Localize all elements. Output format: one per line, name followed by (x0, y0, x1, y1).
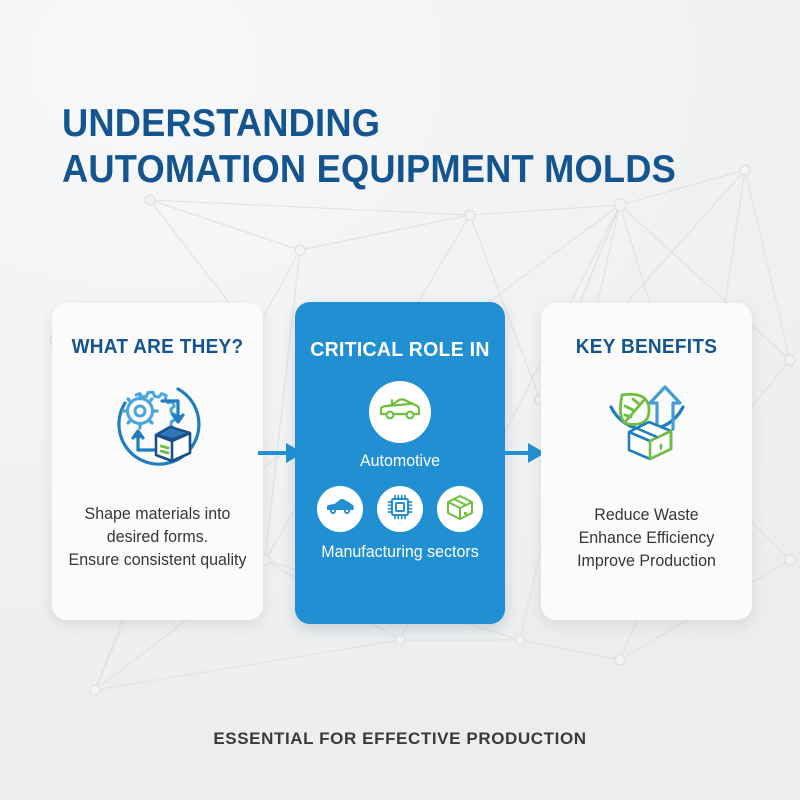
manufacturing-sectors-label: Manufacturing sectors (298, 543, 502, 562)
footer-caption: ESSENTIAL FOR EFFECTIVE PRODUCTION (0, 729, 800, 749)
card-what-are-they-heading: WHAT ARE THEY? (57, 336, 257, 359)
leaf-arrow-box-icon (541, 377, 752, 477)
car-icon (325, 497, 355, 522)
package-box-icon (446, 494, 474, 525)
car-icon (379, 397, 421, 428)
infographic-canvas: UNDERSTANDING AUTOMATION EQUIPMENT MOLDS… (0, 0, 800, 800)
body-line: Shape materials into (63, 503, 252, 526)
title-line-1: UNDERSTANDING (62, 101, 713, 147)
microchip-icon-badge (377, 486, 423, 532)
package-box-icon-badge (437, 486, 483, 532)
body-line: Ensure consistent quality (63, 549, 252, 572)
card-key-benefits-body: Reduce Waste Enhance Efficiency Improve … (544, 504, 749, 573)
car-icon-badge (317, 486, 363, 532)
gear-box-cycle-icon (52, 377, 263, 477)
arrow-center-to-right (500, 440, 545, 471)
manufacturing-icon-row (295, 486, 505, 532)
card-what-are-they-body: Shape materials into desired forms. Ensu… (55, 503, 260, 572)
card-key-benefits-heading: KEY BENEFITS (546, 336, 746, 359)
page-title: UNDERSTANDING AUTOMATION EQUIPMENT MOLDS (62, 101, 762, 193)
microchip-icon (386, 493, 414, 526)
card-key-benefits[interactable]: KEY BENEFITS (541, 303, 752, 620)
body-line: Enhance Efficiency (552, 527, 741, 550)
card-what-are-they[interactable]: WHAT ARE THEY? (52, 303, 263, 620)
card-critical-role-in[interactable]: CRITICAL ROLE IN Automotive (295, 302, 505, 624)
title-line-2: AUTOMATION EQUIPMENT MOLDS (62, 147, 713, 193)
body-line: desired forms. (63, 526, 252, 549)
automotive-label: Automotive (298, 452, 502, 471)
card-critical-role-in-heading: CRITICAL ROLE IN (300, 338, 500, 362)
automotive-icon-badge (369, 381, 431, 443)
body-line: Reduce Waste (552, 504, 741, 527)
body-line: Improve Production (552, 550, 741, 573)
